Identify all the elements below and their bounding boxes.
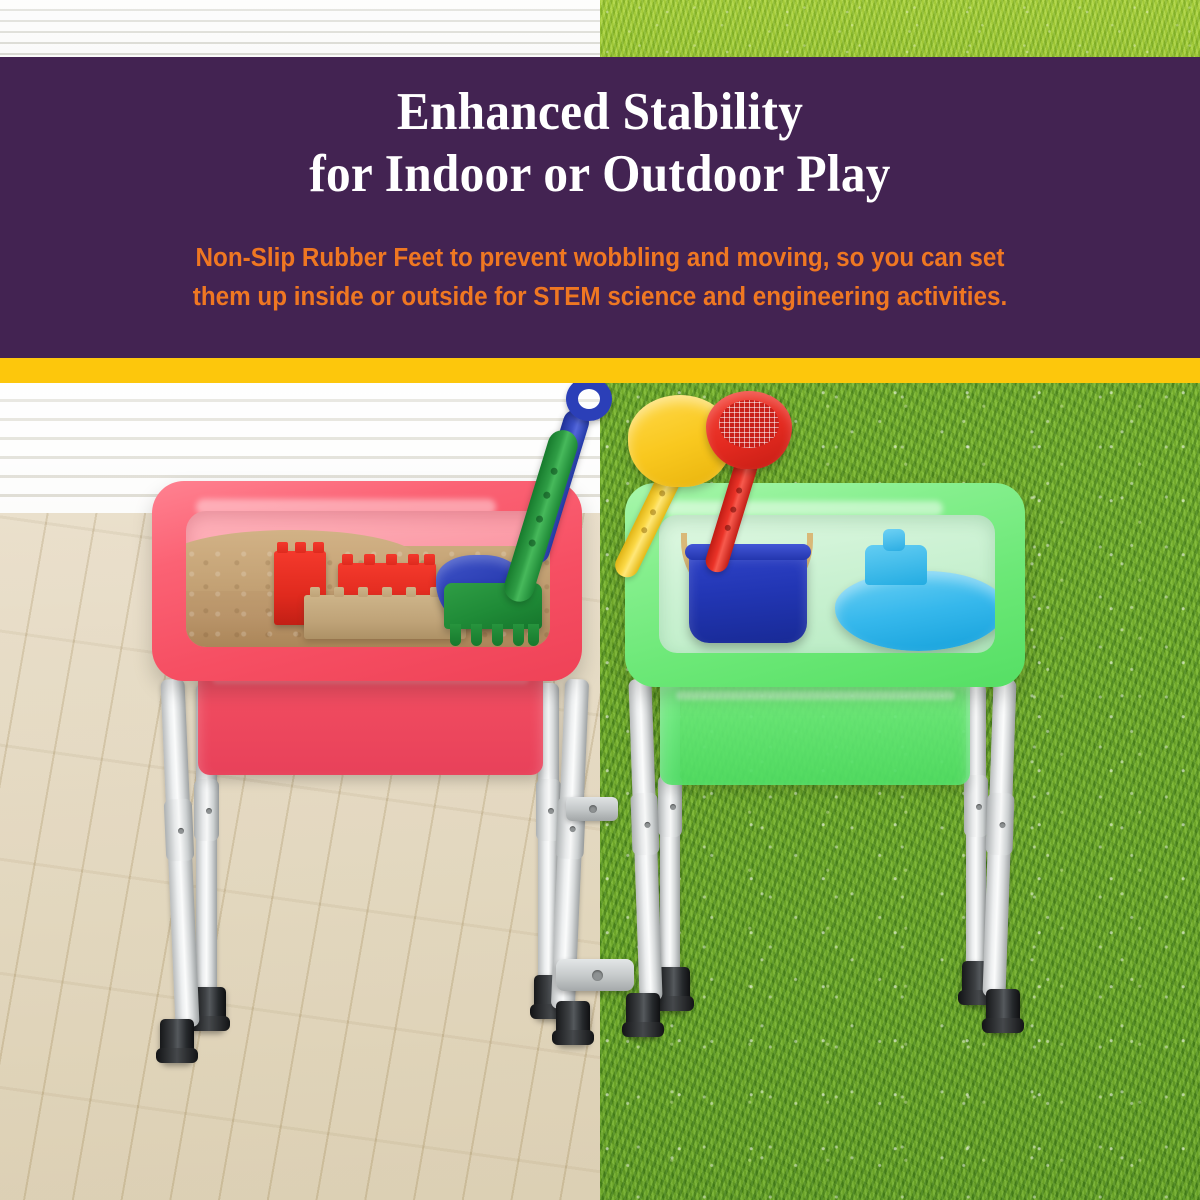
boat-cabin (865, 545, 927, 585)
sand-table-foot-front-left (160, 1019, 194, 1063)
product-photo (0, 383, 1200, 1200)
product-infographic: Enhanced Stability for Indoor or Outdoor… (0, 0, 1200, 1200)
blue-toy-boat (835, 571, 995, 651)
sifter-mesh (719, 400, 779, 448)
water-table-rim (625, 483, 1025, 687)
top-outdoor-grass (600, 0, 1200, 57)
headline-line-2: for Indoor or Outdoor Play (42, 143, 1158, 205)
table-connector-clamp-upper (566, 797, 618, 821)
subtitle-text: Non-Slip Rubber Feet to prevent wobbling… (87, 239, 1113, 317)
water-rim-highlight (665, 501, 943, 516)
sand-table-foot-front-right (556, 1001, 590, 1045)
headline-line-1: Enhanced Stability (397, 83, 803, 141)
water-table-foot-front-left (626, 993, 660, 1037)
top-indoor-wall (0, 0, 600, 57)
subtitle-line-1: Non-Slip Rubber Feet to prevent wobbling… (196, 244, 1005, 272)
sand-table-basin (186, 511, 550, 647)
water-table-lower-bin (660, 673, 970, 785)
water-table-foot-front-right (986, 989, 1020, 1033)
top-photo-strip (0, 0, 1200, 57)
subtitle-line-2: them up inside or outside for STEM scien… (87, 278, 1113, 317)
boat-smokestack (883, 529, 905, 551)
bucket-lip (685, 544, 811, 560)
water-table-basin (659, 515, 995, 653)
table-connector-clamp-lower (556, 959, 634, 991)
page-title: Enhanced Stability for Indoor or Outdoor… (42, 81, 1158, 205)
headline-banner: Enhanced Stability for Indoor or Outdoor… (0, 57, 1200, 358)
yellow-divider-bar (0, 358, 1200, 383)
red-sifter (706, 391, 792, 469)
